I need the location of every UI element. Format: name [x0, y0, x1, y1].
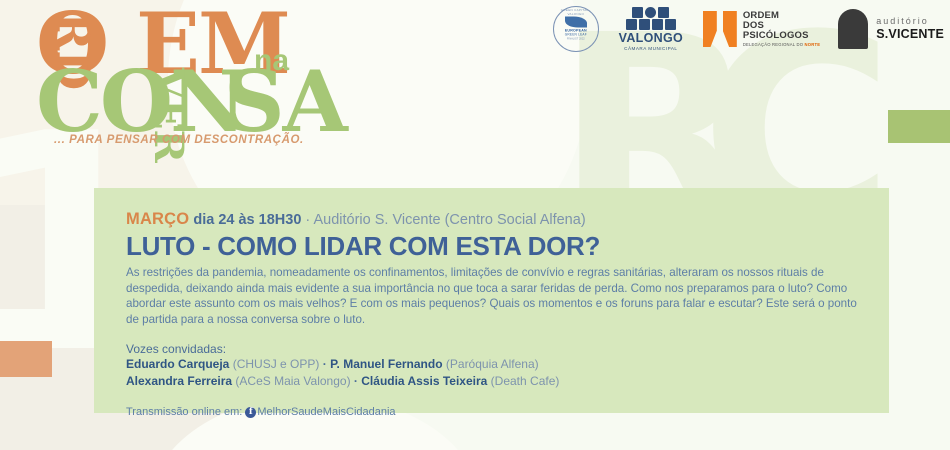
aud-text: auditório S.VICENTE	[876, 16, 944, 41]
voice-name-3: Alexandra Ferreira	[126, 374, 232, 388]
valongo-title: VALONGO	[617, 32, 685, 45]
logo-letter-sa: SA	[224, 60, 346, 144]
egl-arc-text: GREEN CAPITAL · VALONGO	[553, 8, 599, 16]
event-kicker: MARÇO dia 24 às 18H30 · Auditório S. Vic…	[126, 210, 859, 230]
egl-line2: GREEN LEAF	[554, 33, 598, 37]
voice-affiliation-1: (CHUSJ e OPP)	[233, 357, 320, 371]
facebook-icon[interactable]: f	[245, 407, 256, 418]
voices-row-2: Alexandra Ferreira (ACeS Maia Valongo) ·…	[126, 373, 859, 390]
opp-line3: PSICÓLOGOS	[743, 31, 820, 41]
opp-text: ORDEM DOS PSICÓLOGOS DELEGAÇÃO REGIONAL …	[743, 11, 820, 48]
voice-affiliation-3: (ACeS Maia Valongo)	[235, 374, 350, 388]
voice-separator-1: ·	[323, 357, 327, 371]
logo-auditorio-s-vicente: auditório S.VICENTE	[838, 9, 944, 49]
event-day-time: dia 24 às 18H30	[193, 212, 301, 228]
voice-separator-2: ·	[354, 374, 358, 388]
accessibility-icons-row-2	[617, 19, 685, 30]
logo-letter-ver: VER	[148, 68, 188, 163]
logo-letter-con: CON	[36, 60, 244, 144]
event-panel: MARÇO dia 24 às 18H30 · Auditório S. Vic…	[94, 188, 889, 413]
voice-affiliation-2: (Paróquia Alfena)	[446, 357, 539, 371]
event-venue: Auditório S. Vicente (Centro Social Alfe…	[313, 212, 585, 228]
leaf-icon	[565, 17, 587, 28]
eye-icon	[645, 7, 656, 18]
valongo-subtitle: CÂMARA MUNICIPAL	[617, 46, 685, 51]
accent-rect-orange	[0, 341, 52, 377]
opp-sub-prefix: DELEGAÇÃO REGIONAL DO	[743, 42, 805, 47]
logo-ordem-dos-psicologos: ORDEM DOS PSICÓLOGOS DELEGAÇÃO REGIONAL …	[703, 11, 820, 48]
aud-line2: S.VICENTE	[876, 28, 944, 42]
stream-line: Transmissão online em: f MelhorSaudeMais…	[126, 406, 859, 418]
egl-inner: EUROPEAN GREEN LEAF FINALIST 2022	[554, 17, 598, 41]
partner-logos: GREEN CAPITAL · VALONGO EUROPEAN GREEN L…	[553, 6, 944, 52]
poster-canvas: R C 1 O RD EM na CON VER SA ... PARA PEN…	[0, 0, 950, 450]
accent-rect-green	[888, 110, 950, 143]
event-description: As restrições da pandemia, nomeadamente …	[126, 265, 859, 328]
logo-european-green-leaf: GREEN CAPITAL · VALONGO EUROPEAN GREEN L…	[553, 6, 599, 52]
voice-name-1: Eduardo Carqueja	[126, 357, 229, 371]
arch-icon	[838, 9, 868, 49]
event-panel-inner: MARÇO dia 24 às 18H30 · Auditório S. Vic…	[94, 188, 889, 418]
voice-affiliation-4: (Death Cafe)	[491, 374, 560, 388]
stream-handle[interactable]: MelhorSaudeMaisCidadania	[257, 406, 395, 418]
document-icon	[658, 7, 669, 18]
person-icon	[626, 19, 637, 30]
opp-mark-icon	[703, 11, 737, 47]
voices-row-1: Eduardo Carqueja (CHUSJ e OPP) · P. Manu…	[126, 356, 859, 373]
kicker-separator: ·	[301, 212, 313, 228]
umbrella-icon	[632, 7, 643, 18]
opp-mark-right	[723, 11, 737, 47]
opp-mark-left	[703, 11, 717, 47]
crutch-icon	[639, 19, 650, 30]
voices-label: Vozes convidadas:	[126, 342, 859, 356]
event-title: LUTO - COMO LIDAR COM ESTA DOR?	[126, 232, 859, 260]
wheelchair-icon	[652, 19, 663, 30]
opp-subtitle: DELEGAÇÃO REGIONAL DO NORTE	[743, 43, 820, 48]
family-icon	[665, 19, 676, 30]
egl-line3: FINALIST 2022	[554, 38, 598, 41]
brand-logo: O RD EM na CON VER SA	[36, 4, 326, 154]
accessibility-icons-row-1	[617, 7, 685, 18]
event-month: MARÇO	[126, 210, 189, 228]
voice-name-4: Cláudia Assis Teixeira	[361, 374, 487, 388]
voice-name-2: P. Manuel Fernando	[330, 357, 442, 371]
logo-valongo: VALONGO CÂMARA MUNICIPAL	[617, 7, 685, 51]
opp-sub-strong: NORTE	[805, 42, 821, 47]
stream-label: Transmissão online em:	[126, 406, 242, 418]
logo-tagline: ... PARA PENSAR COM DESCONTRAÇÃO.	[54, 134, 304, 146]
